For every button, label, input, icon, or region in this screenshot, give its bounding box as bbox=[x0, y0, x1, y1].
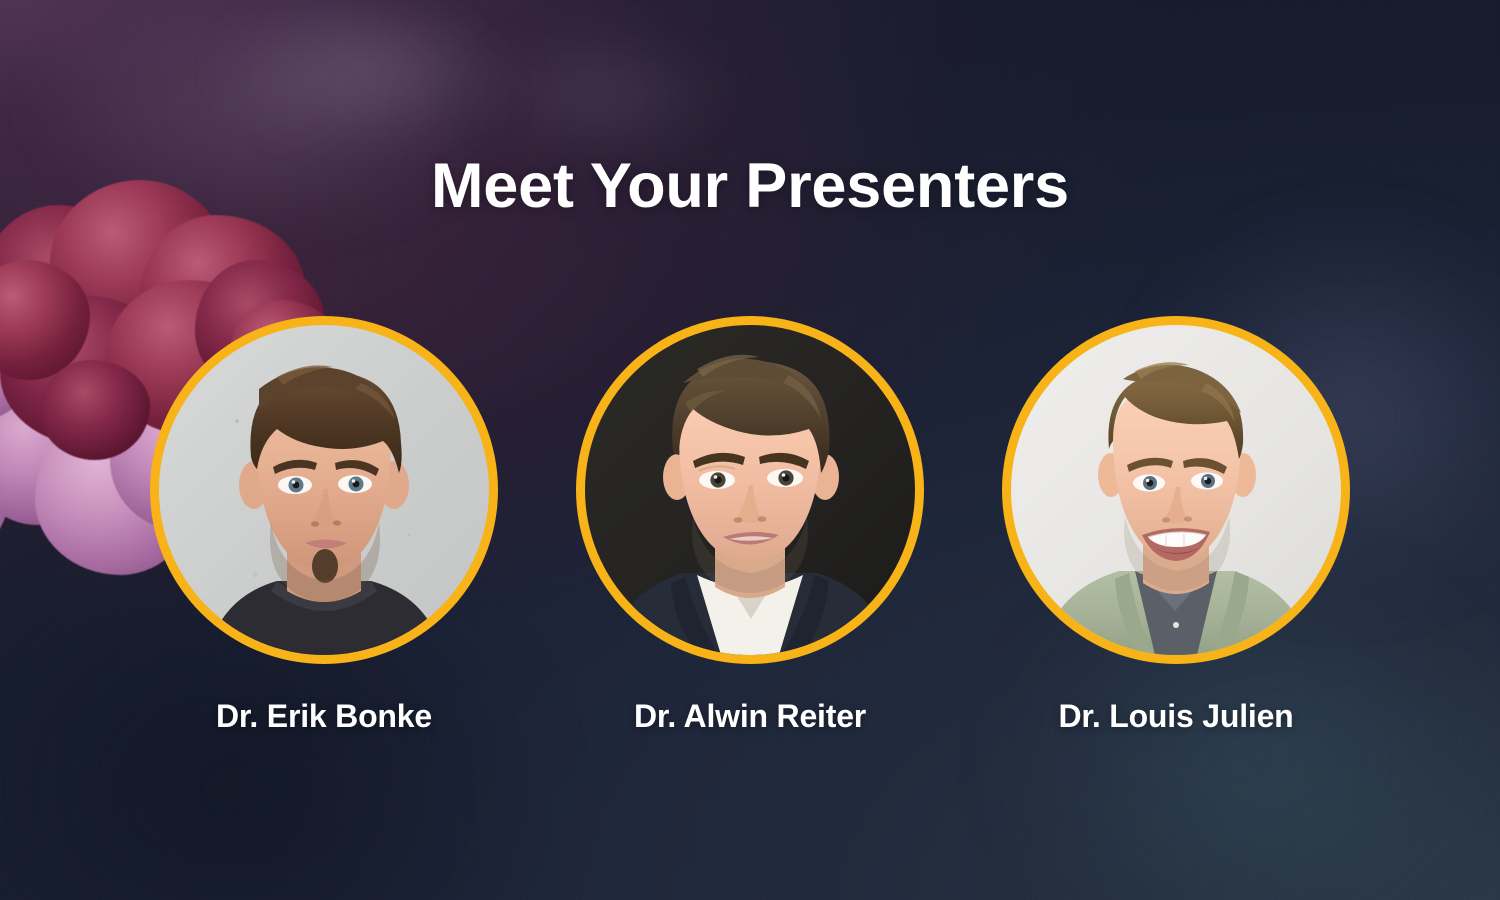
avatar-photo-alwin-reiter bbox=[585, 325, 915, 655]
presenter-card[interactable]: Dr. Alwin Reiter bbox=[576, 316, 924, 735]
presenter-name: Dr. Erik Bonke bbox=[216, 698, 432, 735]
avatar-ring bbox=[1002, 316, 1350, 664]
presenter-name: Dr. Alwin Reiter bbox=[634, 698, 866, 735]
presenters-row: Dr. Erik Bonke bbox=[0, 316, 1500, 735]
presenter-card[interactable]: Dr. Erik Bonke bbox=[150, 316, 498, 735]
avatar-photo-louis-julien bbox=[1011, 325, 1341, 655]
presenter-card[interactable]: Dr. Louis Julien bbox=[1002, 316, 1350, 735]
avatar-photo-erik-bonke bbox=[159, 325, 489, 655]
avatar-ring bbox=[576, 316, 924, 664]
slide-title: Meet Your Presenters bbox=[0, 155, 1500, 218]
presenter-name: Dr. Louis Julien bbox=[1058, 698, 1293, 735]
avatar-ring bbox=[150, 316, 498, 664]
presenters-slide: Meet Your Presenters bbox=[0, 0, 1500, 900]
